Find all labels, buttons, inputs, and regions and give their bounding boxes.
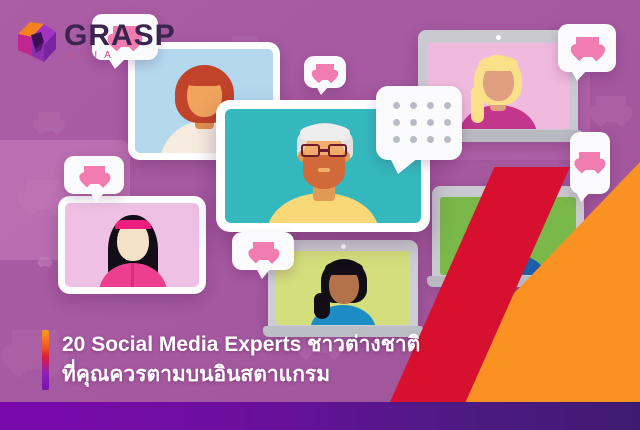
avatar-beard [303, 155, 345, 189]
bubble-tail [571, 70, 587, 81]
bubble-tail [256, 268, 271, 279]
avatar-mouth [318, 168, 330, 172]
cube-logo-icon [14, 18, 58, 64]
bubble-heart-top-center[interactable] [304, 56, 346, 88]
bottom-color-bar [0, 402, 640, 430]
webcam-dot-icon [341, 244, 346, 249]
bubble-tail [576, 192, 590, 202]
headline-text: 20 Social Media Experts ชาวต่างชาติ ที่ค… [62, 330, 420, 390]
avatar-hair-fringe [300, 124, 350, 141]
bubble-heart-center-low[interactable] [232, 232, 294, 270]
typing-dots-icon [393, 102, 451, 143]
brand-name: GRASP [64, 22, 176, 50]
heart-icon [579, 152, 600, 170]
avatar-ponytail [471, 87, 484, 123]
avatar-hair-fringe [325, 261, 363, 275]
bubble-heart-right-edge[interactable] [570, 132, 610, 194]
video-screen [65, 203, 199, 287]
headline-line-2: ที่คุณควรตามบนอินสตาแกรม [62, 360, 420, 390]
heart-icon [84, 166, 105, 184]
avatar-pink-headband [65, 203, 199, 287]
heart-icon [316, 64, 334, 80]
bubble-tail [90, 192, 105, 202]
brand-wordmark: GRASP ASIA [64, 22, 176, 61]
avatar-hair-fringe [184, 67, 225, 86]
avatar-ponytail [314, 293, 330, 319]
headline-accent-bar [42, 330, 49, 390]
headline-line-1: 20 Social Media Experts ชาวต่างชาติ [62, 330, 420, 360]
brand-logo[interactable]: GRASP ASIA [14, 18, 176, 64]
background-heart-2 [38, 112, 60, 131]
bubble-tail [316, 86, 329, 95]
video-window-pink-headband[interactable] [58, 196, 206, 294]
heart-icon [253, 242, 274, 260]
avatar-hair-fringe [479, 56, 518, 71]
avatar-dark-ponytail [276, 251, 410, 325]
bubble-tail [390, 158, 418, 174]
background-heart-7 [596, 96, 626, 122]
avatar-collar [131, 263, 134, 287]
bubble-heart-mid-left[interactable] [64, 156, 124, 194]
glasses-icon [301, 144, 347, 157]
avatar-headband-icon [115, 220, 151, 229]
bubble-dots-center[interactable] [376, 86, 462, 160]
bubble-heart-top-right[interactable] [558, 24, 616, 72]
poster-canvas: GRASP ASIA 20 Social Media Experts ชาวต่… [0, 0, 640, 430]
headline-block: 20 Social Media Experts ชาวต่างชาติ ที่ค… [42, 330, 420, 390]
video-screen [276, 251, 410, 325]
heart-icon [576, 37, 599, 57]
webcam-dot-icon [496, 35, 501, 40]
